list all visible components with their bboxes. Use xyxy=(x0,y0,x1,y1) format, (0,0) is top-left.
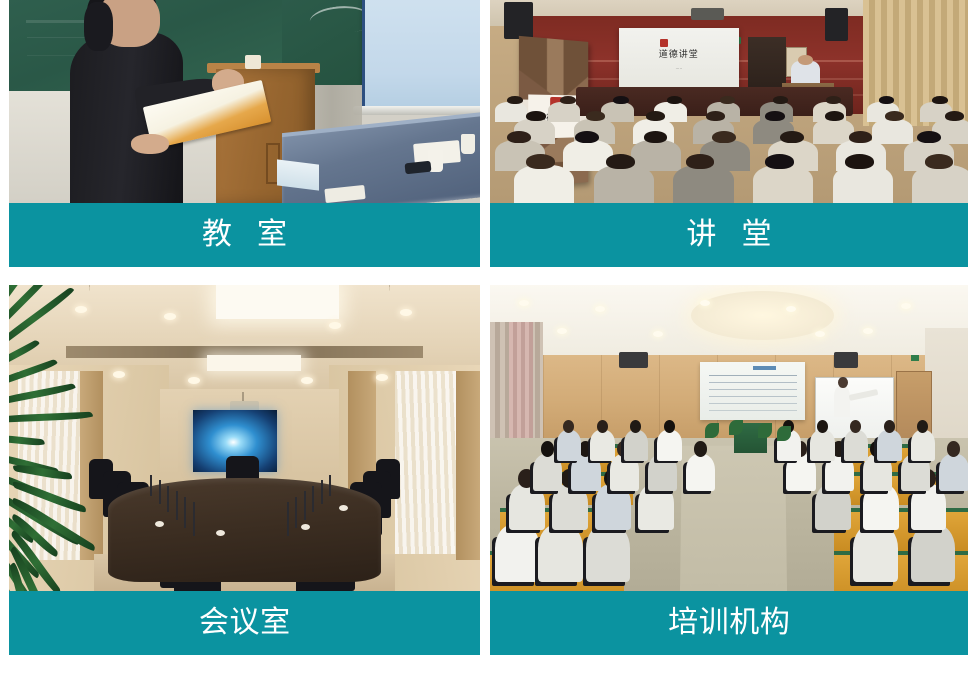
ceiling-skylight-secondary xyxy=(207,355,301,370)
attendee-body xyxy=(877,430,901,461)
attendee-head xyxy=(597,420,608,433)
audience-torso xyxy=(912,165,968,203)
conference-mic-left xyxy=(159,480,161,504)
audience-head xyxy=(606,154,635,169)
conference-mic-right xyxy=(329,475,331,496)
audience-head xyxy=(706,111,725,121)
lecture-hall-photo[interactable]: 道德讲堂 ····· 道德讲堂 xyxy=(490,0,968,203)
downlight xyxy=(164,313,176,320)
attendee-head xyxy=(694,441,707,457)
audience-torso xyxy=(833,165,893,203)
attendee-head xyxy=(884,420,895,433)
training-downlight xyxy=(863,328,873,334)
desk-mug-b xyxy=(461,134,475,154)
conference-mic-left xyxy=(167,486,169,512)
attendee-body xyxy=(911,430,935,461)
card-caption-meeting-room: 会议室 xyxy=(9,591,480,655)
attendee-head xyxy=(664,420,675,433)
teacher-hand-lower xyxy=(131,134,169,154)
audience-head xyxy=(586,111,605,121)
podium-cup xyxy=(245,55,261,69)
trainer-body xyxy=(834,386,850,417)
grid-row-bottom: 会议室 xyxy=(9,285,968,655)
grid-row-top: 教 室 道德讲堂 ····· xyxy=(9,0,968,267)
downlight xyxy=(329,322,341,329)
attendee-body xyxy=(657,430,681,461)
audience-head xyxy=(765,111,784,121)
attendee-body xyxy=(590,430,614,461)
speaker-box-left xyxy=(504,2,533,39)
wall-speaker-right xyxy=(834,352,858,367)
attendee-head xyxy=(917,420,928,433)
downlight xyxy=(376,374,388,381)
audience-head xyxy=(575,131,599,143)
speaker-box-right xyxy=(825,8,849,40)
audience-head xyxy=(917,131,941,143)
training-downlight xyxy=(815,331,825,337)
trainer-head xyxy=(838,377,848,388)
attendee-body xyxy=(853,524,898,581)
drape-far-right xyxy=(456,371,480,561)
attendee-body xyxy=(939,454,968,492)
audience-torso xyxy=(548,102,581,122)
audience-head xyxy=(507,131,531,143)
desk-nameplate xyxy=(277,160,319,191)
conference-mic-left xyxy=(193,502,195,536)
card-training-institution[interactable]: 培训机构 xyxy=(490,285,968,655)
conference-mic-right xyxy=(304,491,306,520)
audience-head xyxy=(720,96,735,104)
slide-header xyxy=(753,366,776,370)
training-exit-sign xyxy=(911,355,919,361)
card-lecture-hall[interactable]: 道德讲堂 ····· 道德讲堂 讲 堂 xyxy=(490,0,968,267)
attendee-body xyxy=(495,524,540,581)
attendee-head xyxy=(541,441,554,457)
attendee-head xyxy=(563,420,574,433)
decor-plant xyxy=(758,423,772,438)
downlight xyxy=(188,377,200,384)
audience-head xyxy=(773,96,788,104)
audience-head xyxy=(825,111,844,121)
wall-speaker-left xyxy=(619,352,648,367)
downlight xyxy=(113,371,125,378)
meeting-room-photo[interactable] xyxy=(9,285,480,591)
attendee-body xyxy=(686,454,715,492)
audience-torso xyxy=(594,165,654,203)
audience-head xyxy=(780,131,804,143)
hall-audience xyxy=(490,93,968,203)
audience-head xyxy=(526,154,555,169)
conference-mic-left xyxy=(150,475,152,496)
audience-torso xyxy=(753,165,813,203)
audience-head xyxy=(885,111,904,121)
classroom-photo[interactable] xyxy=(9,0,480,203)
audience-head xyxy=(644,131,668,143)
conference-table xyxy=(108,478,381,582)
conference-mic-right xyxy=(321,480,323,504)
screen-title: 道德讲堂 xyxy=(619,47,739,60)
audience-torso xyxy=(872,119,913,145)
ceiling-oval-light xyxy=(691,291,834,340)
attendee-body xyxy=(538,524,583,581)
hall-projection-screen: 道德讲堂 ····· xyxy=(619,28,739,89)
audience-torso xyxy=(601,102,634,122)
attendee-head xyxy=(947,441,960,457)
audience-head xyxy=(646,111,665,121)
attendee-body xyxy=(586,524,631,581)
card-meeting-room[interactable]: 会议室 xyxy=(9,285,480,655)
audience-torso xyxy=(673,165,733,203)
conference-mic-left xyxy=(184,497,186,528)
audience-head xyxy=(560,96,575,104)
attendee-head xyxy=(817,420,828,433)
audience-head xyxy=(826,96,841,104)
downlight xyxy=(301,377,313,384)
conference-cup xyxy=(216,530,225,536)
audience-head xyxy=(667,96,682,104)
image-grid: 教 室 道德讲堂 ····· xyxy=(0,0,980,693)
audience-head xyxy=(765,154,794,169)
conference-mic-right xyxy=(287,502,289,536)
audience-head xyxy=(932,96,947,104)
screen-subtitle: ····· xyxy=(619,66,739,71)
audience-head xyxy=(613,96,628,104)
attendee-body xyxy=(624,430,648,461)
audience-head xyxy=(507,96,522,104)
projection-screen xyxy=(362,0,480,109)
attendee-head xyxy=(850,420,861,433)
conference-mic-right xyxy=(312,486,314,512)
card-classroom[interactable]: 教 室 xyxy=(9,0,480,267)
attendee-body xyxy=(557,430,581,461)
audience-head xyxy=(712,131,736,143)
training-downlight xyxy=(557,328,567,334)
training-projection-screen xyxy=(700,362,805,420)
audience-head xyxy=(925,154,954,169)
attendee-body xyxy=(911,524,956,581)
audience-head xyxy=(945,111,964,121)
ceiling-projector xyxy=(691,8,724,20)
table-top-right xyxy=(834,508,968,512)
conference-mic-right xyxy=(295,497,297,528)
conference-mic-left xyxy=(176,491,178,520)
attendee-head xyxy=(630,420,641,433)
attendee-body xyxy=(810,430,834,461)
audience-head xyxy=(849,131,873,143)
attendee-body xyxy=(844,430,868,461)
audience-head xyxy=(879,96,894,104)
teacher-hair-side xyxy=(84,2,112,51)
card-caption-training-institution: 培训机构 xyxy=(490,591,968,655)
conference-cup xyxy=(301,524,310,530)
screen-roller xyxy=(353,106,480,115)
audience-head xyxy=(686,154,715,169)
training-institution-photo[interactable] xyxy=(490,285,968,591)
sheer-curtain-left xyxy=(18,371,89,561)
training-downlight xyxy=(653,331,663,337)
card-caption-classroom: 教 室 xyxy=(9,203,480,267)
audience-head xyxy=(845,154,874,169)
audience-torso xyxy=(514,165,574,203)
hall-presenter-head xyxy=(798,55,812,65)
conference-cup xyxy=(155,521,164,527)
card-caption-lecture-hall: 讲 堂 xyxy=(490,203,968,267)
audience-head xyxy=(526,111,545,121)
ceiling-skylight xyxy=(216,285,338,319)
